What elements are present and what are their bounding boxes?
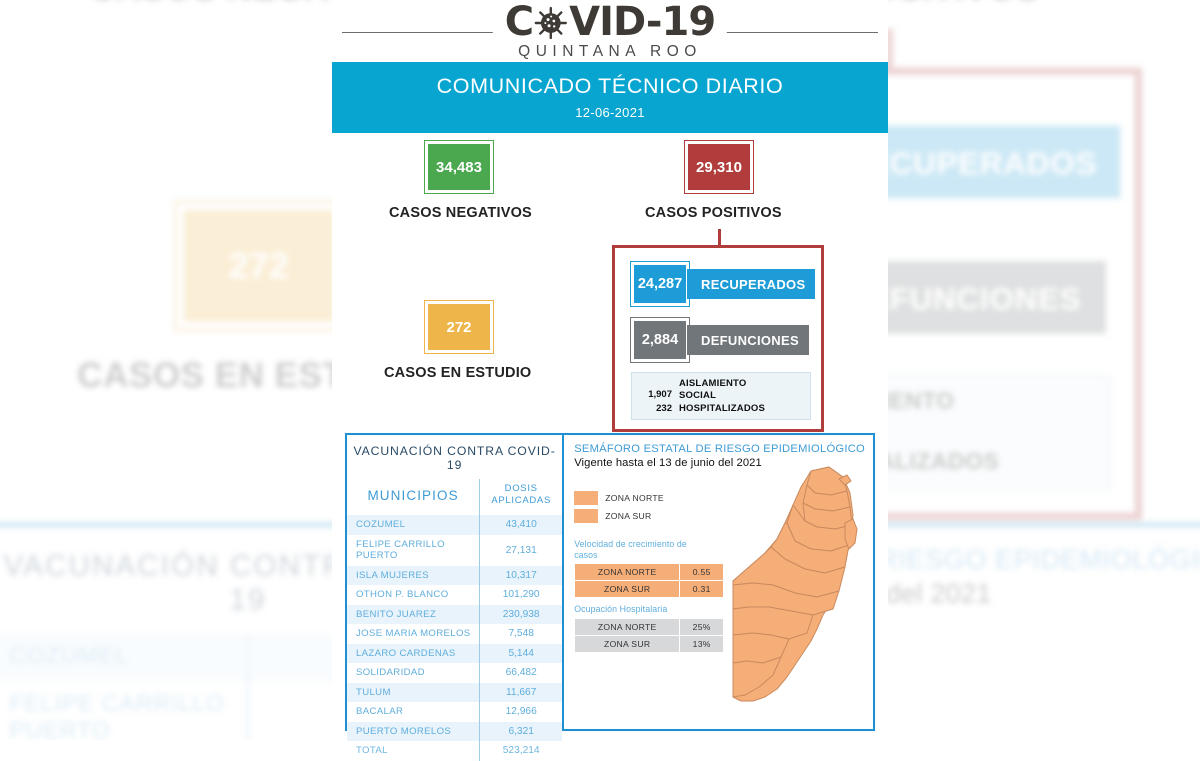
- defunciones-row: 2,884 DEFUNCIONES: [631, 318, 809, 362]
- table-row: OTHON P. BLANCO101,290: [347, 585, 562, 605]
- logo-text-right: VID-19: [569, 2, 715, 42]
- quintana-roo-map: [719, 463, 869, 708]
- cell-dosis: 523,214: [480, 741, 563, 761]
- stat-box-estudio: 272: [425, 301, 493, 353]
- covid19-logo: C VID-19: [332, 0, 888, 62]
- cell-dosis: 7,548: [480, 624, 563, 644]
- legend-swatch-icon: [574, 509, 598, 523]
- ocupacion-caption: Ocupación Hospitalaria: [574, 604, 694, 615]
- cell-municipio: FELIPE CARRILLO PUERTO: [0, 681, 248, 740]
- table-row: TULUM11,667: [347, 683, 562, 703]
- activos-info-box: 1,907 AISLAMIENTOSOCIAL 232 HOSPITALIZAD…: [631, 372, 811, 420]
- vacunacion-table: MUNICIPIOS DOSISAPLICADAS COZUMEL43,410F…: [347, 479, 562, 761]
- cell-municipio: LAZARO CARDENAS: [347, 644, 480, 664]
- table-row: ISLA MUJERES10,317: [347, 566, 562, 586]
- table-row: TOTAL523,214: [347, 741, 562, 761]
- vacunacion-title: VACUNACIÓN CONTRA COVID-19: [347, 435, 562, 479]
- table-row: PUERTO MORELOS6,321: [347, 722, 562, 742]
- table-row: JOSE MARIA MORELOS7,548: [347, 624, 562, 644]
- ocupacion-zona: ZONA NORTE: [575, 618, 680, 635]
- stat-label-negativos: CASOS NEGATIVOS: [389, 205, 532, 221]
- table-row: ZONA SUR 13%: [575, 635, 724, 652]
- cell-dosis: 43,410: [480, 515, 563, 535]
- vacunacion-panel: VACUNACIÓN CONTRA COVID-19 MUNICIPIOS DO…: [347, 435, 564, 729]
- table-row: ZONA NORTE 25%: [575, 618, 724, 635]
- legend-swatch-icon: [574, 491, 598, 505]
- velocidad-table: ZONA NORTE 0.55 ZONA SUR 0.31: [574, 563, 724, 598]
- ocupacion-valor: 13%: [680, 635, 724, 652]
- coronavirus-icon: [534, 6, 568, 40]
- table-row: BENITO JUAREZ230,938: [347, 605, 562, 625]
- cell-dosis: 12,966: [480, 702, 563, 722]
- positivos-breakdown-frame: 24,287 RECUPERADOS 2,884 DEFUNCIONES 1,9…: [612, 245, 824, 432]
- title-band: COMUNICADO TÉCNICO DIARIO 12-06-2021: [332, 62, 888, 133]
- cell-dosis: 10,317: [480, 566, 563, 586]
- infographic-card: C VID-19: [332, 0, 888, 740]
- legend-label: ZONA NORTE: [605, 493, 664, 503]
- cell-municipio: COZUMEL: [347, 515, 480, 535]
- hospitalizados-value: 232: [638, 403, 679, 414]
- cell-municipio: ISLA MUJERES: [347, 566, 480, 586]
- cell-municipio: PUERTO MORELOS: [347, 722, 480, 742]
- stat-box-positivos: 29,310: [685, 141, 753, 193]
- legend-label: ZONA SUR: [605, 511, 651, 521]
- logo-subtitle: QUINTANA ROO: [505, 43, 715, 61]
- table-row: COZUMEL43,410: [347, 515, 562, 535]
- logo-text-left: C: [505, 2, 533, 42]
- stats-section: 34,483 CASOS NEGATIVOS 29,310 CASOS POSI…: [332, 133, 888, 433]
- cell-municipio: SOLIDARIDAD: [347, 663, 480, 683]
- velocidad-zona: ZONA NORTE: [575, 564, 680, 581]
- recuperados-value: 24,287: [631, 262, 689, 306]
- defunciones-label: DEFUNCIONES: [687, 325, 809, 355]
- band-title: COMUNICADO TÉCNICO DIARIO: [332, 74, 888, 99]
- cell-dosis: 11,667: [480, 683, 563, 703]
- hospitalizados-row: 232 HOSPITALIZADOS: [638, 403, 804, 415]
- cell-dosis: 6,321: [480, 722, 563, 742]
- cell-municipio: BACALAR: [347, 702, 480, 722]
- aislamiento-value: 1,907: [638, 378, 679, 400]
- cell-municipio: BENITO JUAREZ: [347, 605, 480, 625]
- table-row: ZONA NORTE 0.55: [575, 564, 724, 581]
- semaforo-title: SEMÁFORO ESTATAL DE RIESGO EPIDEMIOLÓGIC…: [574, 443, 865, 455]
- stat-label-positivos: CASOS POSITIVOS: [645, 205, 782, 221]
- velocidad-valor: 0.55: [680, 564, 724, 581]
- table-row: SOLIDARIDAD66,482: [347, 663, 562, 683]
- defunciones-value: 2,884: [631, 318, 689, 362]
- col-header-dosis: DOSISAPLICADAS: [480, 479, 563, 515]
- cell-dosis: 101,290: [480, 585, 563, 605]
- cell-dosis: 5,144: [480, 644, 563, 664]
- cell-municipio: JOSE MARIA MORELOS: [347, 624, 480, 644]
- cell-dosis: 230,938: [480, 605, 563, 625]
- table-header-row: MUNICIPIOS DOSISAPLICADAS: [347, 479, 562, 515]
- hospitalizados-label: HOSPITALIZADOS: [679, 403, 765, 415]
- cell-municipio: FELIPE CARRILLO PUERTO: [347, 535, 480, 566]
- vacunacion-table-body: COZUMEL43,410FELIPE CARRILLO PUERTO27,13…: [347, 515, 562, 761]
- table-row: FELIPE CARRILLO PUERTO27,131: [347, 535, 562, 566]
- ocupacion-zona: ZONA SUR: [575, 635, 680, 652]
- recuperados-row: 24,287 RECUPERADOS: [631, 262, 815, 306]
- table-row: BACALAR12,966: [347, 702, 562, 722]
- cell-municipio: COZUMEL: [0, 634, 248, 681]
- table-row: ZONA SUR 0.31: [575, 581, 724, 598]
- stat-label-estudio: CASOS EN ESTUDIO: [384, 365, 531, 381]
- cell-dosis: 27,131: [480, 535, 563, 566]
- aislamiento-row: 1,907 AISLAMIENTOSOCIAL: [638, 378, 804, 401]
- ocupacion-table: ZONA NORTE 25% ZONA SUR 13%: [574, 618, 724, 653]
- table-row: LAZARO CARDENAS5,144: [347, 644, 562, 664]
- cell-municipio: TOTAL: [347, 741, 480, 761]
- recuperados-label: RECUPERADOS: [687, 269, 815, 299]
- cell-municipio: TULUM: [347, 683, 480, 703]
- semaforo-panel: SEMÁFORO ESTATAL DE RIESGO EPIDEMIOLÓGIC…: [564, 435, 873, 729]
- velocidad-caption: Velocidad de crecimiento de casos: [574, 539, 694, 560]
- ocupacion-valor: 25%: [680, 618, 724, 635]
- col-header-municipios: MUNICIPIOS: [347, 479, 480, 515]
- cell-municipio: OTHON P. BLANCO: [347, 585, 480, 605]
- aislamiento-label: AISLAMIENTOSOCIAL: [679, 378, 746, 401]
- bottom-panel: VACUNACIÓN CONTRA COVID-19 MUNICIPIOS DO…: [345, 433, 875, 731]
- band-date: 12-06-2021: [332, 105, 888, 120]
- velocidad-zona: ZONA SUR: [575, 581, 680, 598]
- velocidad-valor: 0.31: [680, 581, 724, 598]
- cell-dosis: 66,482: [480, 663, 563, 683]
- stat-box-negativos: 34,483: [425, 141, 493, 193]
